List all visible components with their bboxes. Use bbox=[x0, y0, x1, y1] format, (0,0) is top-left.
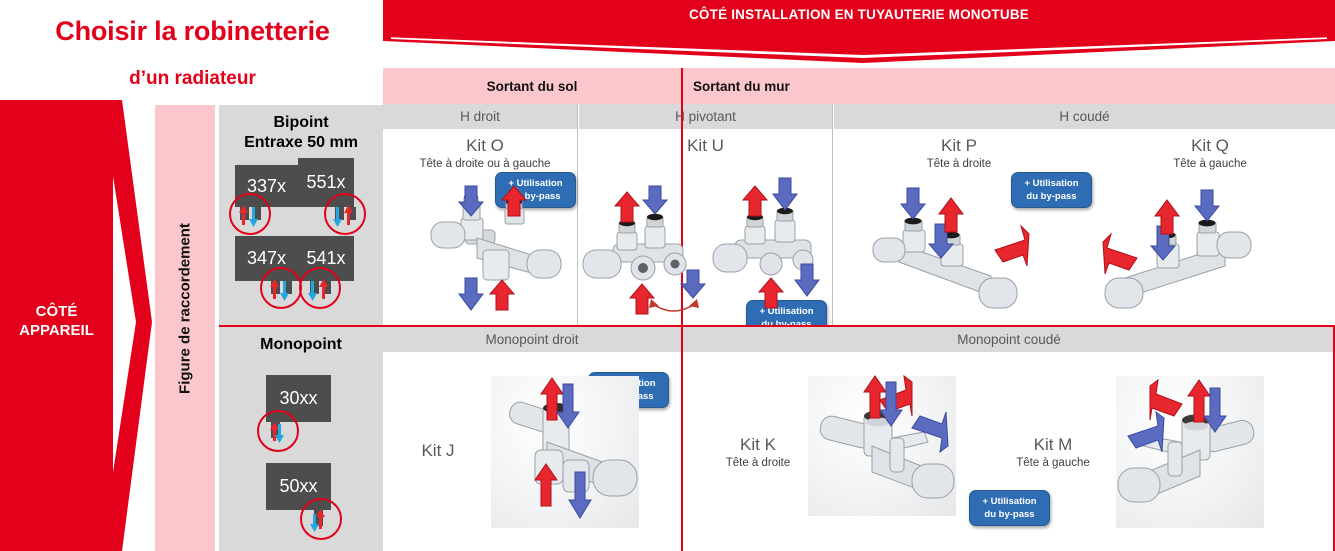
header-sortant-du-mur-label: Sortant du mur bbox=[693, 79, 790, 94]
figure-de-raccordement-column: Figure de raccordement bbox=[155, 105, 215, 551]
bipoint-figure-2-left-flow-arrows bbox=[260, 267, 298, 305]
cote-appareil-label: CÔTÉ APPAREIL bbox=[0, 302, 113, 340]
subheader-h-droit: H droit bbox=[383, 104, 577, 129]
kit-k-valve-figure bbox=[808, 376, 956, 516]
kit-o-valve-figure bbox=[431, 186, 579, 321]
kit-o-subtitle: Tête à droite ou à gauche bbox=[393, 158, 577, 170]
monopoint-code-50xx: 50xx bbox=[279, 476, 317, 497]
header-red-divider bbox=[681, 68, 683, 104]
kit-q-name: Kit Q bbox=[1085, 136, 1335, 156]
cote-appareil-line1: CÔTÉ bbox=[36, 303, 78, 320]
subheader-monopoint-coude: Monopoint coudé bbox=[683, 327, 1335, 352]
bipoint-code-541x: 541x bbox=[306, 248, 345, 269]
bipoint-figure-2-right-flow-arrows bbox=[299, 267, 337, 305]
monopoint-cell: Monopoint 30xx 50xx bbox=[219, 327, 383, 551]
bypass-line1: + Utilisation bbox=[982, 496, 1036, 507]
subheader-monopoint-coude-label: Monopoint coudé bbox=[957, 332, 1061, 347]
subheader-h-coude-label: H coudé bbox=[1059, 109, 1109, 124]
bipoint-title: Bipoint Entraxe 50 mm bbox=[219, 105, 383, 153]
kit-p-subtitle: Tête à droite bbox=[834, 158, 1084, 170]
page-title: Choisir la robinetterie bbox=[0, 16, 385, 47]
bipoint-figure-1-right-flow-arrows bbox=[324, 193, 362, 231]
subheader-h-pivotant-label: H pivotant bbox=[675, 109, 736, 124]
kit-k-subtitle: Tête à droite bbox=[703, 457, 813, 469]
kit-o-name: Kit O bbox=[393, 136, 577, 156]
banner-chevron-icon bbox=[383, 33, 1335, 63]
bipoint-code-347x: 347x bbox=[247, 248, 286, 269]
installation-banner-label: CÔTÉ INSTALLATION EN TUYAUTERIE MONOTUBE bbox=[383, 7, 1335, 22]
bypass-line2: du by-pass bbox=[1026, 191, 1076, 202]
kit-q-valve-figure bbox=[1105, 190, 1275, 318]
header-sortant-du-sol-label: Sortant du sol bbox=[487, 79, 578, 94]
kit-u-valve-figure-right bbox=[713, 178, 833, 308]
monopoint-figure-1-flow-arrows bbox=[257, 410, 295, 448]
kit-j-name: Kit J bbox=[393, 441, 483, 461]
monopoint-code-30xx: 30xx bbox=[279, 388, 317, 409]
subheader-h-coude: H coudé bbox=[834, 104, 1335, 129]
kit-p-valve-figure bbox=[873, 188, 1033, 316]
kit-u-name: Kit U bbox=[583, 136, 828, 156]
bipoint-name: Bipoint bbox=[273, 114, 328, 131]
header-sortant-du-mur: Sortant du mur bbox=[683, 68, 1335, 104]
kit-q-subtitle: Tête à gauche bbox=[1085, 158, 1335, 170]
bypass-line2: du by-pass bbox=[984, 509, 1034, 520]
header-sortant-du-sol: Sortant du sol bbox=[383, 68, 681, 104]
subheader-monopoint-droit: Monopoint droit bbox=[383, 327, 681, 352]
cote-appareil-line2: APPAREIL bbox=[19, 322, 94, 339]
cell-red-divider-2 bbox=[681, 327, 683, 551]
kit-k-name: Kit K bbox=[703, 435, 813, 455]
installation-table: Sortant du sol Sortant du mur H droit H … bbox=[383, 68, 1335, 551]
bipoint-cell: Bipoint Entraxe 50 mm 337x 551x 347x 541… bbox=[219, 105, 383, 325]
monopoint-figure-2-flow-arrows bbox=[300, 498, 338, 536]
kit-m-valve-figure bbox=[1116, 376, 1264, 528]
subheader-h-pivotant: H pivotant bbox=[579, 104, 832, 129]
subheader-monopoint-droit-label: Monopoint droit bbox=[485, 332, 578, 347]
page-subtitle: d’un radiateur bbox=[0, 68, 385, 90]
bipoint-code-551x: 551x bbox=[306, 172, 345, 193]
bipoint-figure-1-left-flow-arrows bbox=[229, 193, 267, 231]
kit-m-name: Kit M bbox=[998, 435, 1108, 455]
monopoint-title: Monopoint bbox=[219, 327, 383, 354]
kit-m-bypass-badge[interactable]: + Utilisation du by-pass bbox=[969, 490, 1050, 526]
subheader-h-droit-label: H droit bbox=[460, 109, 500, 124]
figure-de-raccordement-label: Figure de raccordement bbox=[177, 99, 194, 519]
bipoint-subtitle: Entraxe 50 mm bbox=[244, 134, 358, 151]
kit-m-subtitle: Tête à gauche bbox=[998, 457, 1108, 469]
kit-p-name: Kit P bbox=[834, 136, 1084, 156]
kit-j-valve-figure bbox=[491, 376, 639, 528]
table-right-edge bbox=[1333, 327, 1335, 551]
kit-u-valve-figure-left bbox=[583, 186, 708, 321]
